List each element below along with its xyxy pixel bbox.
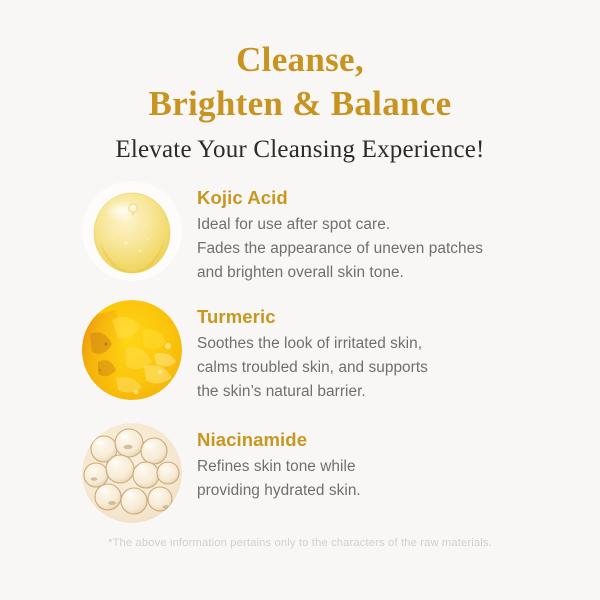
ingredient-text-niacinamide: Niacinamide Refines skin tone while prov…: [182, 423, 361, 503]
ingredient-description-kojic-acid: Ideal for use after spot care. Fades the…: [197, 213, 483, 285]
ingredient-list: Kojic Acid Ideal for use after spot care…: [0, 181, 600, 533]
ingredient-name-niacinamide: Niacinamide: [197, 429, 361, 451]
ingredient-description-turmeric: Soothes the look of irritated skin, calm…: [197, 332, 428, 404]
ingredient-row-kojic-acid: Kojic Acid Ideal for use after spot care…: [0, 181, 580, 293]
ingredient-text-kojic-acid: Kojic Acid Ideal for use after spot care…: [182, 181, 483, 285]
description-line: Ideal for use after spot care.: [197, 213, 483, 237]
kojic-acid-serum-drop-image: [82, 181, 182, 281]
page-title: Cleanse, Brighten & Balance: [0, 38, 600, 127]
description-line: calms troubled skin, and supports: [197, 356, 428, 380]
description-line: Soothes the look of irritated skin,: [197, 332, 428, 356]
ingredient-infographic-poster: Cleanse, Brighten & Balance Elevate Your…: [0, 0, 600, 600]
disclaimer-footnote: *The above information pertains only to …: [0, 537, 600, 549]
header: Cleanse, Brighten & Balance Elevate Your…: [0, 0, 600, 164]
page-title-line-1: Cleanse,: [0, 38, 600, 82]
page-subtitle: Elevate Your Cleansing Experience!: [0, 136, 600, 164]
description-line: the skin’s natural barrier.: [197, 380, 428, 404]
niacinamide-bubbles-image: [82, 423, 182, 523]
ingredient-row-turmeric: Turmeric Soothes the look of irritated s…: [0, 300, 580, 416]
page-title-line-2: Brighten & Balance: [0, 82, 600, 126]
ingredient-name-turmeric: Turmeric: [197, 306, 428, 328]
ingredient-row-niacinamide: Niacinamide Refines skin tone while prov…: [0, 423, 580, 533]
description-line: and brighten overall skin tone.: [197, 261, 483, 285]
ingredient-description-niacinamide: Refines skin tone while providing hydrat…: [197, 455, 361, 503]
description-line: Fades the appearance of uneven patches: [197, 237, 483, 261]
description-line: Refines skin tone while: [197, 455, 361, 479]
ingredient-text-turmeric: Turmeric Soothes the look of irritated s…: [182, 300, 428, 404]
description-line: providing hydrated skin.: [197, 479, 361, 503]
turmeric-powder-image: [82, 300, 182, 400]
ingredient-name-kojic-acid: Kojic Acid: [197, 187, 483, 209]
